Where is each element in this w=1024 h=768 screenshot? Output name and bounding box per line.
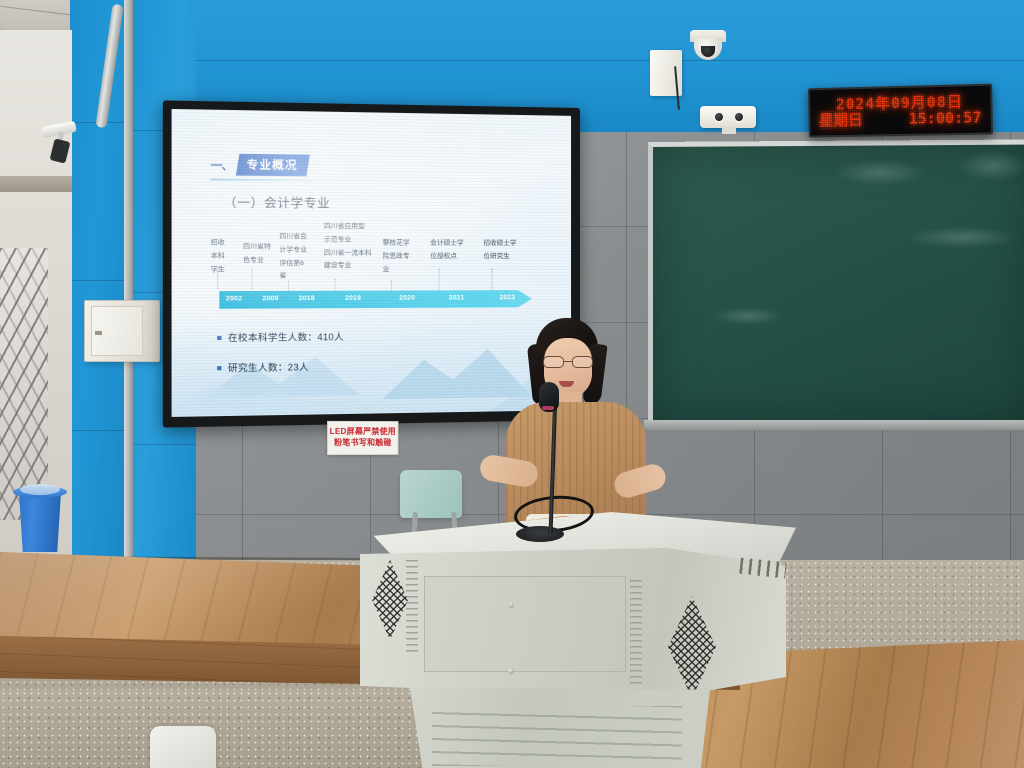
- timeline-label: 四川省一流本科: [324, 249, 374, 258]
- accordion-security-gate[interactable]: [0, 248, 48, 520]
- timeline-label: 业: [383, 266, 420, 275]
- glasses-icon: [542, 356, 594, 368]
- timeline-label: 评估第6: [279, 259, 315, 268]
- floor-equipment: [150, 726, 216, 768]
- podium-vent: [406, 560, 418, 656]
- slide-section-title: 专业概况: [246, 156, 297, 173]
- timeline-label: 位授权点: [430, 253, 475, 262]
- timeline-label: 位研究生: [483, 253, 528, 262]
- gate-glass: [0, 248, 48, 520]
- led-warning-sign: LED屏幕严禁使用 粉笔书写和触碰: [327, 421, 398, 455]
- slide-section-number: 一、: [211, 156, 233, 173]
- classroom-scene: 一、 专业概况 （一）会计学专业 招收 本科 学生 四: [0, 0, 1024, 768]
- timeline-year: 2020: [399, 295, 415, 302]
- slide-section-title-badge: 专业概况: [236, 154, 310, 176]
- left-wall-beam: [0, 176, 72, 192]
- bullet-text: 在校本科学生人数：410人: [228, 330, 344, 344]
- podium-lock[interactable]: [508, 602, 514, 608]
- chalkboard-tray: [644, 420, 1024, 430]
- timeline-label: 色专业: [243, 256, 279, 265]
- microphone-indicator: [542, 406, 554, 410]
- led-wall-clock: 2024年09月08日 星期日 15:00:57: [808, 84, 993, 138]
- pedestal-vent-slats: [432, 706, 682, 766]
- timeline-label: 省: [279, 273, 315, 282]
- list-item: 在校本科学生人数：410人: [217, 330, 344, 344]
- podium-lock[interactable]: [508, 668, 514, 674]
- bullet-square-icon: [217, 335, 221, 339]
- timeline-label: 示范专业: [324, 236, 374, 245]
- timeline-year: 2018: [299, 295, 315, 302]
- microphone-base: [516, 526, 564, 542]
- timeline-year: 2021: [449, 294, 465, 301]
- timeline-year: 2019: [345, 295, 361, 302]
- timeline-label: 会计硕士学: [430, 240, 475, 249]
- warning-line-2: 粉笔书写和触碰: [334, 438, 392, 449]
- cabinet-latch: [95, 331, 102, 335]
- timeline-label: 学生: [211, 266, 239, 275]
- clock-weekday: 星期日: [819, 112, 863, 129]
- security-camera-icon: [36, 120, 82, 164]
- timeline-label: 招收硕士学: [483, 240, 528, 249]
- green-chalkboard[interactable]: [648, 139, 1024, 424]
- timeline-label: 建设专业: [324, 262, 374, 271]
- timeline-label: 招收: [211, 239, 239, 248]
- trash-bag: [20, 484, 60, 495]
- timeline-label: 四川省应用型: [324, 223, 374, 232]
- electrical-cabinet[interactable]: [84, 300, 160, 362]
- warning-line-1: LED屏幕严禁使用: [330, 427, 396, 438]
- clock-time: 15:00:57: [909, 109, 982, 127]
- timeline-year: 2002: [226, 295, 242, 302]
- timeline-label: 攀枝花学: [383, 239, 420, 248]
- timeline-label: 本科: [211, 252, 239, 261]
- slide-title-underline: [211, 178, 341, 181]
- trash-bin: [16, 490, 64, 552]
- dome-camera: [688, 30, 728, 68]
- timeline-label: 四川省特: [243, 243, 279, 252]
- slide-title: 一、 专业概况: [211, 153, 308, 176]
- slide-timeline: 招收 本科 学生 四川省特 色专业 四川省会 计学专业 评估第6 省: [202, 216, 561, 316]
- podium-front-panel[interactable]: [424, 576, 626, 672]
- bullet-square-icon: [217, 366, 221, 370]
- bullet-text: 研究生人数：23人: [228, 360, 309, 374]
- column-edge-trim: [124, 0, 133, 590]
- slide-bullet-list: 在校本科学生人数：410人 研究生人数：23人: [217, 330, 344, 391]
- timeline-label: 院思政专: [383, 253, 420, 262]
- timeline-year: 2009: [262, 295, 278, 302]
- podium-vent: [630, 580, 642, 686]
- timeline-year: 2023: [500, 294, 515, 301]
- list-item: 研究生人数：23人: [217, 360, 344, 375]
- timeline-label: 计学专业: [279, 246, 315, 255]
- timeline-label: 四川省会: [279, 233, 315, 242]
- chair[interactable]: [400, 470, 462, 518]
- dual-lens-camera: [700, 106, 756, 128]
- slide-subtitle: （一）会计学专业: [224, 193, 331, 211]
